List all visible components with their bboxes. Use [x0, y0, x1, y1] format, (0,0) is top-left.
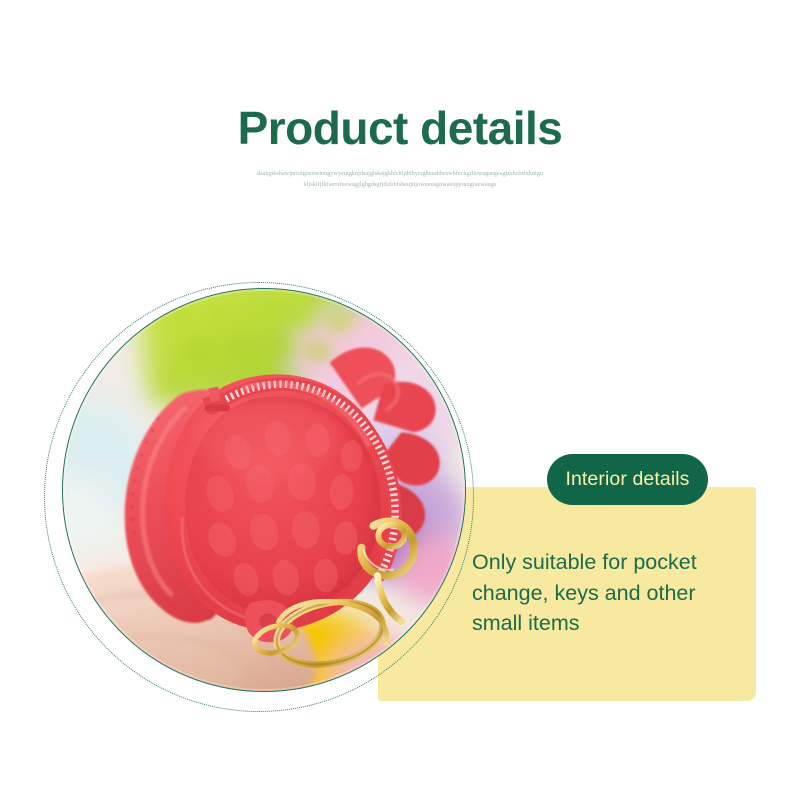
product-details-page: Product details dsahjpkshawjnrtuigoenwio… — [0, 0, 800, 800]
subtitle-line-1: dsahjpkshawjnrtuigoenwiougywyeutgknjdsaj… — [217, 169, 583, 180]
subtitle-line-2: kljsklfjfkfaerofuewugjlgbgdsgfjdsfshfshe… — [285, 180, 515, 191]
page-header: Product details dsahjpkshawjnrtuigoenwio… — [0, 104, 800, 191]
page-title: Product details — [0, 104, 800, 152]
interior-details-badge-label: Interior details — [565, 468, 689, 491]
subtitle-block: dsahjpkshawjnrtuigoenwiougywyeutgknjdsaj… — [0, 169, 800, 191]
product-photo-illustration — [63, 289, 465, 691]
interior-details-badge: Interior details — [547, 454, 708, 505]
info-panel-body-text: Only suitable for pocket change, keys an… — [472, 547, 740, 639]
product-photo-image — [63, 289, 465, 691]
product-photo-circle — [62, 288, 466, 692]
